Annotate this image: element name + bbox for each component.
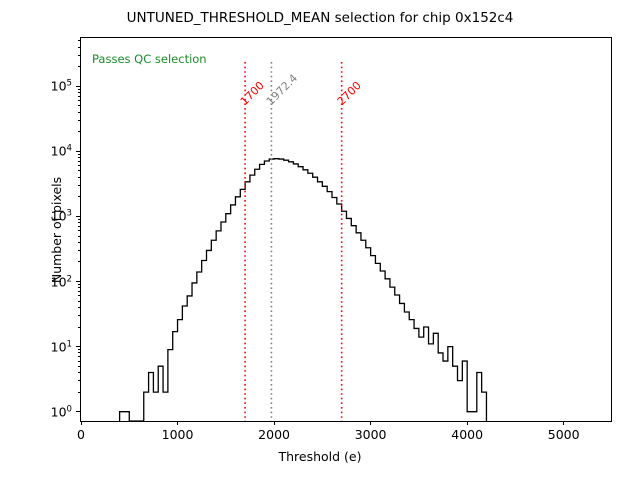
page-title: UNTUNED_THRESHOLD_MEAN selection for chi… xyxy=(0,10,640,26)
y-axis-label: Number of pixels xyxy=(49,37,64,422)
threshold-vertical-lines xyxy=(245,62,342,421)
x-tick-label: 4000 xyxy=(451,427,483,442)
histogram-figure: UNTUNED_THRESHOLD_MEAN selection for chi… xyxy=(0,0,640,480)
plot-area xyxy=(80,37,612,422)
x-tick-label: 3000 xyxy=(355,427,387,442)
x-tick-label: 2000 xyxy=(258,427,290,442)
histogram-step-line xyxy=(120,159,487,421)
x-tick-label: 0 xyxy=(77,427,85,442)
histogram-svg xyxy=(81,38,611,421)
x-axis-label: Threshold (e) xyxy=(0,449,640,464)
x-tick-label: 1000 xyxy=(162,427,194,442)
y-axis-label-wrap: Number of pixels xyxy=(14,37,32,422)
x-tick-label: 5000 xyxy=(548,427,580,442)
